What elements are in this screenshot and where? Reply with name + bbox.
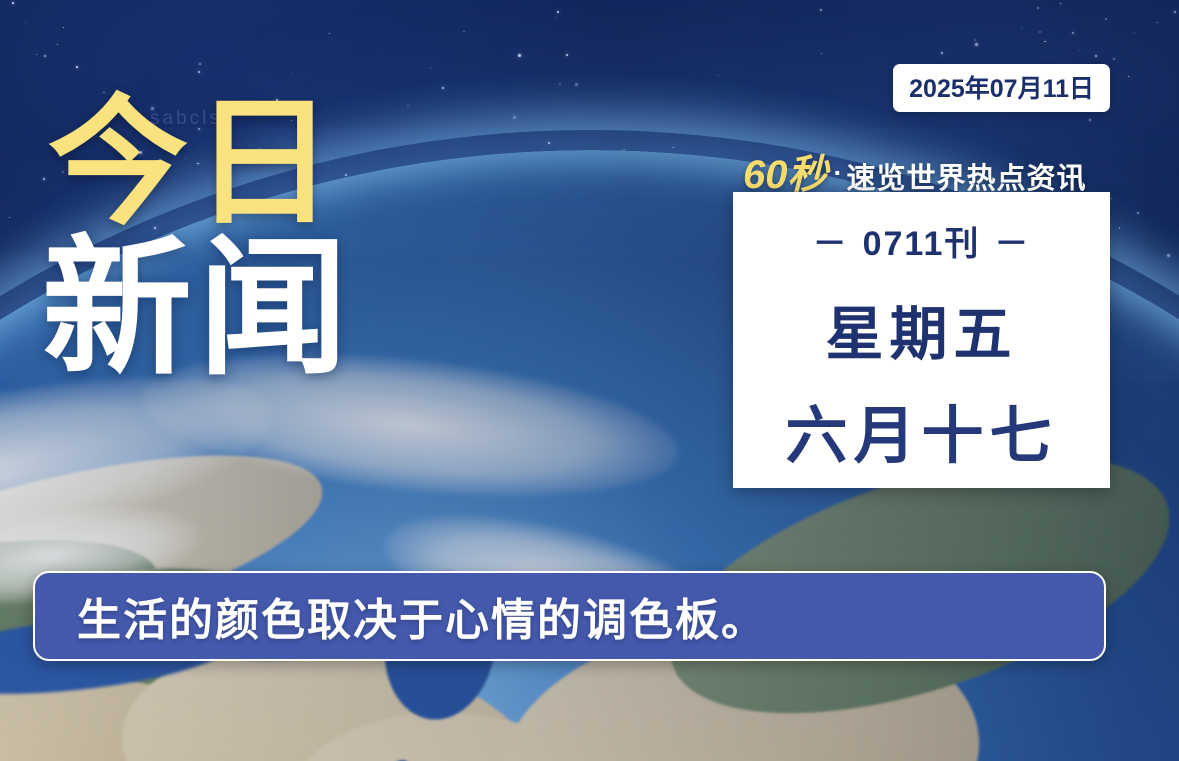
star: [941, 52, 943, 54]
issue-dash-right: －: [980, 225, 1044, 263]
star: [43, 178, 45, 180]
star: [1156, 22, 1157, 23]
star: [57, 44, 58, 45]
star: [463, 31, 464, 32]
tagline-highlight: 60秒: [743, 153, 828, 197]
poster-title: 今日 新闻: [48, 94, 478, 382]
star: [12, 2, 14, 4]
issue-info-card: －0711刊－ 星期五 六月十七: [733, 192, 1110, 488]
star: [556, 17, 557, 18]
star: [1060, 3, 1061, 4]
star: [44, 55, 46, 57]
star: [1037, 7, 1039, 9]
star: [1039, 31, 1041, 33]
star: [292, 73, 293, 74]
star: [557, 11, 559, 13]
star: [718, 75, 719, 76]
date-badge: 2025年07月11日: [893, 64, 1110, 112]
star: [1044, 41, 1045, 42]
star: [1095, 55, 1097, 57]
star: [199, 63, 201, 65]
star: [1167, 254, 1170, 257]
star: [442, 87, 444, 89]
star: [1079, 50, 1080, 51]
star: [1134, 32, 1135, 33]
star: [518, 54, 521, 57]
star: [975, 43, 978, 46]
star: [329, 33, 330, 34]
star: [1105, 18, 1107, 20]
star: [974, 39, 976, 41]
issue-dash-left: －: [799, 225, 863, 263]
star: [1111, 198, 1112, 199]
star: [36, 54, 37, 55]
title-line-jinri: 今日: [48, 94, 478, 231]
star: [821, 53, 822, 54]
star: [1137, 212, 1139, 214]
tagline-separator: ·: [828, 158, 847, 188]
issue-row: －0711刊－: [733, 216, 1110, 265]
lunar-date-label: 六月十七: [733, 385, 1110, 475]
star: [1021, 28, 1022, 29]
star: [1119, 227, 1120, 228]
star: [76, 66, 78, 68]
star: [1072, 32, 1074, 34]
star: [513, 116, 516, 119]
tagline-rest: 速览世界热点资讯: [847, 163, 1087, 195]
star: [1128, 76, 1129, 77]
weekday-label: 星期五: [733, 287, 1110, 371]
star: [430, 68, 431, 69]
star: [25, 22, 26, 23]
star: [1174, 11, 1176, 13]
star: [198, 71, 199, 72]
star: [820, 9, 821, 10]
star: [566, 54, 568, 56]
star: [559, 83, 561, 85]
star: [548, 142, 550, 144]
quote-banner: 生活的颜色取决于心情的调色板。: [33, 571, 1106, 661]
issue-label: 0711刊: [863, 225, 981, 263]
news-poster: sabcls 今日 新闻 2025年07月11日 60秒·速览世界热点资讯 －0…: [0, 0, 1179, 761]
title-line-xinwen: 新闻: [42, 235, 478, 382]
star: [1089, 119, 1091, 121]
star: [63, 27, 64, 28]
star: [9, 217, 10, 218]
star: [575, 83, 578, 86]
star: [1113, 58, 1115, 60]
quote-text: 生活的颜色取决于心情的调色板。: [35, 584, 767, 648]
star: [672, 147, 673, 148]
